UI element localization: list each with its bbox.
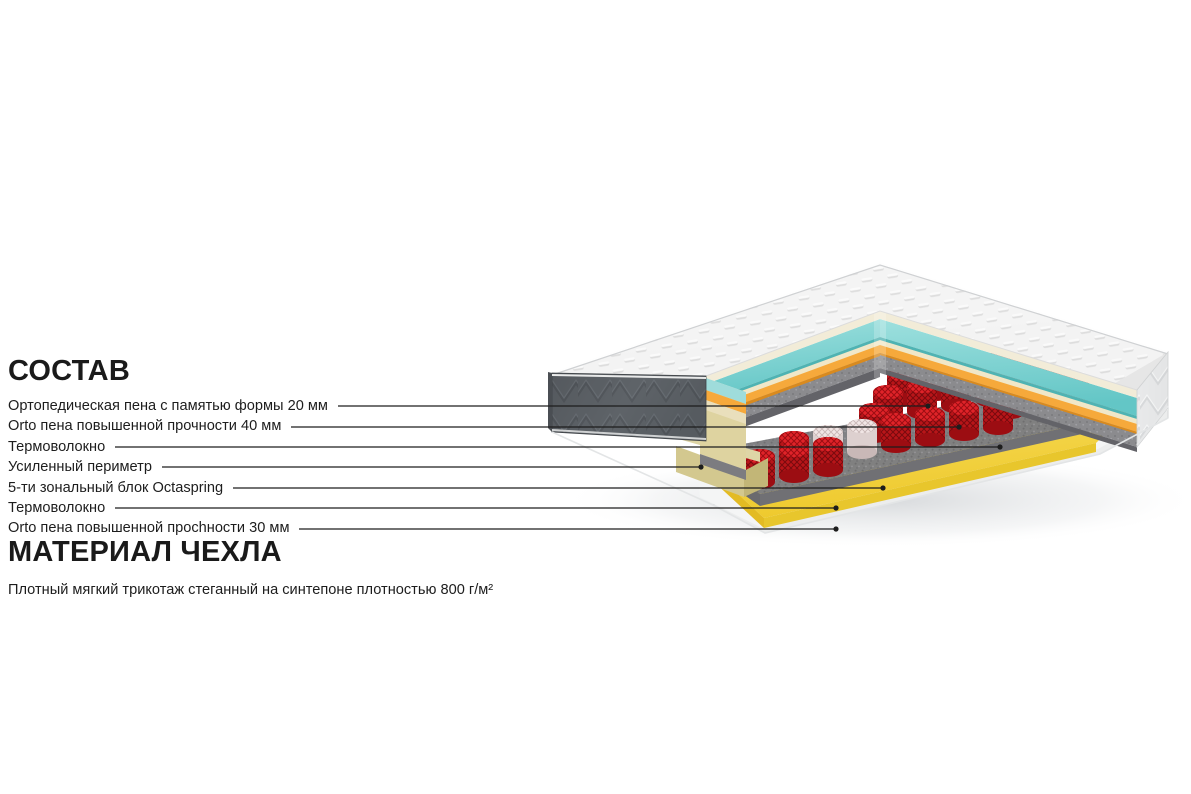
list-item-layer-6: Термоволокно [8,498,568,518]
list-item-layer-4: Усиленный периметр [8,457,568,477]
infographic-page: СОСТАВ Ортопедическая пена с памятью фор… [0,0,1191,794]
list-item-layer-1: Ортопедическая пена с памятью формы 20 м… [8,396,568,416]
front-side-panel [552,373,706,441]
page-title-composition: СОСТАВ [8,355,130,387]
list-item-layer-5: 5-ти зональный блок Octaspring [8,478,568,498]
list-item-layer-3: Термоволокно [8,437,568,457]
cut-corner-highlight [874,311,886,378]
layer-label-thermofiber-upper: Термоволокно [8,437,105,457]
list-item-layer-2: Orto пена повышенной прочности 40 мм [8,416,568,436]
layer-label-memory-foam: Ортопедическая пена с памятью формы 20 м… [8,396,328,416]
layer-label-reinforced-perimeter: Усиленный периметр [8,457,152,477]
layer-label-thermofiber-lower: Термоволокно [8,498,105,518]
left-cut-face [700,376,746,480]
layer-label-orto-foam-40: Orto пена повышенной прочности 40 мм [8,416,281,436]
composition-layer-list: Ортопедическая пена с памятью формы 20 м… [8,396,568,539]
page-title-cover-material: МАТЕРИАЛ ЧЕХЛА [8,536,282,568]
cover-material-description: Плотный мягкий трикотаж стеганный на син… [8,580,493,600]
layer-label-octaspring-block: 5-ти зональный блок Octaspring [8,478,223,498]
